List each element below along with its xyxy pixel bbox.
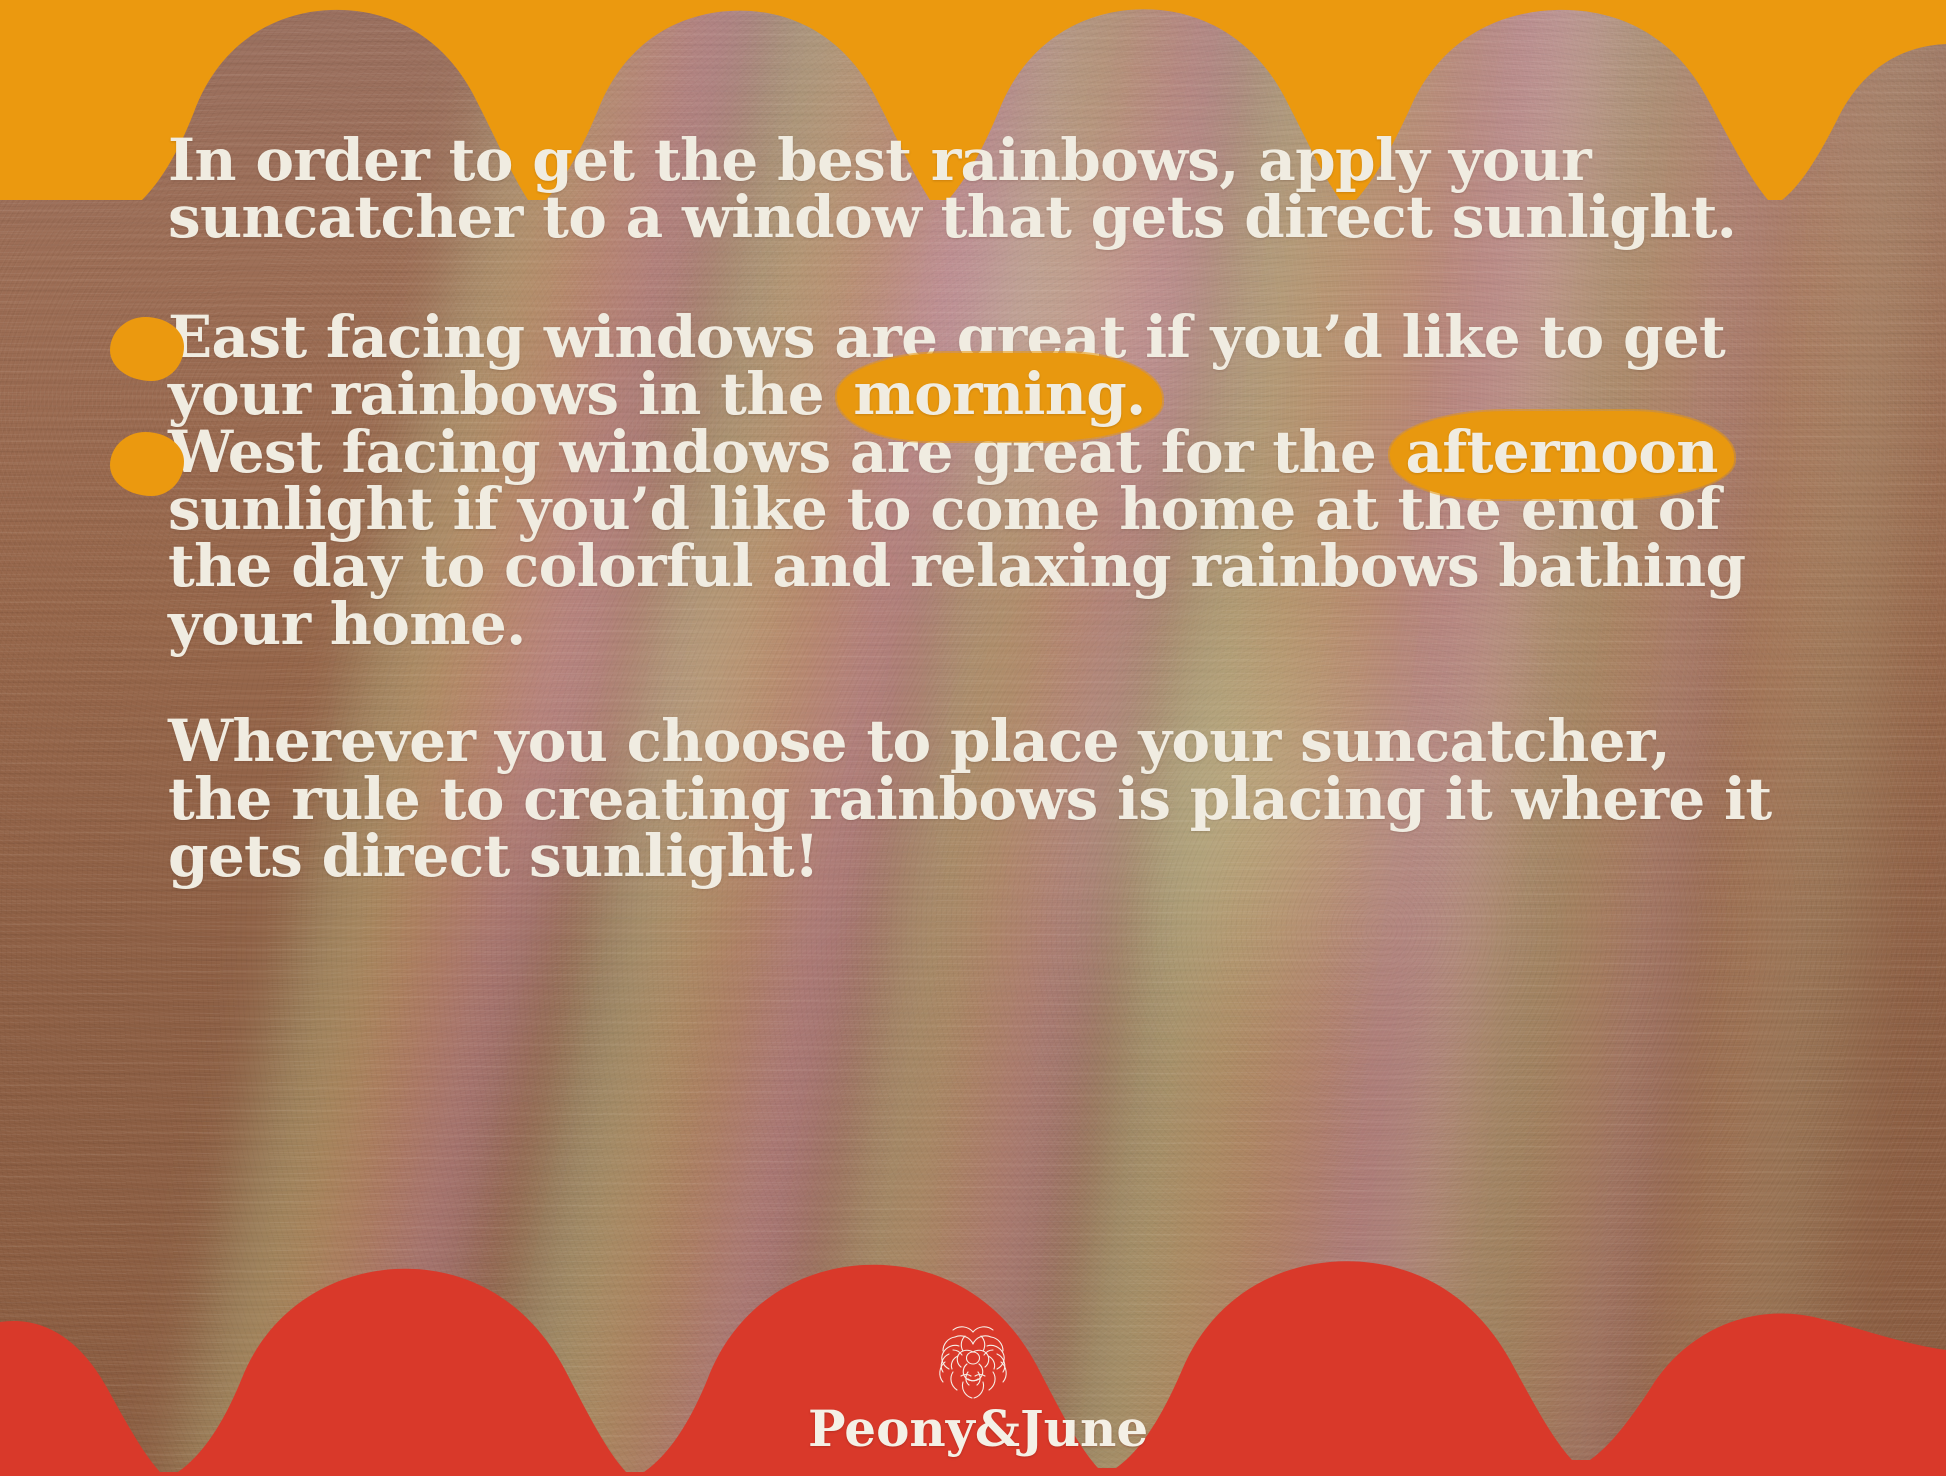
brand-wordmark: Peony&June <box>808 1404 1138 1454</box>
bullet-dot-icon <box>110 432 184 496</box>
bullet-dot-icon <box>110 317 184 381</box>
list-item: East facing windows are great if you’d l… <box>168 309 1788 424</box>
poster-canvas: In order to get the best rainbows, apply… <box>0 0 1946 1476</box>
poster-text-content: In order to get the best rainbows, apply… <box>168 132 1788 885</box>
list-item: West facing windows are great for the af… <box>168 424 1788 654</box>
bullet-list: East facing windows are great if you’d l… <box>168 309 1788 653</box>
brand-logo: Peony&June <box>808 1310 1138 1454</box>
outro-paragraph: Wherever you choose to place your suncat… <box>168 713 1788 885</box>
highlight-afternoon: afternoon <box>1396 418 1728 486</box>
bullet-item-east: East facing windows are great if you’d l… <box>168 309 1788 424</box>
bullet-text-after: sunlight if you’d like to come home at t… <box>168 475 1745 658</box>
peony-flower-icon <box>923 1310 1023 1402</box>
highlight-morning: morning. <box>843 360 1155 428</box>
intro-paragraph: In order to get the best rainbows, apply… <box>168 132 1788 247</box>
bullet-item-west: West facing windows are great for the af… <box>168 424 1788 654</box>
